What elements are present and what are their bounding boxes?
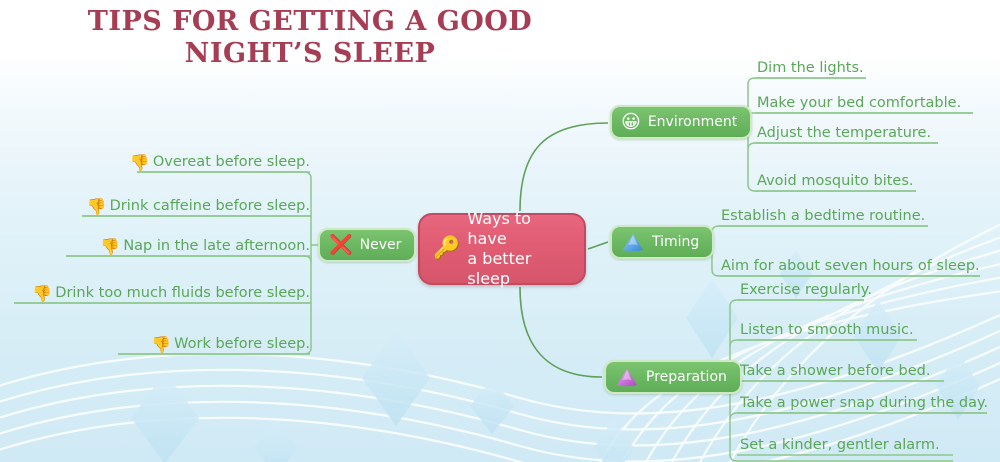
leaf-environment-4[interactable]: Avoid mosquito bites. bbox=[757, 174, 914, 193]
red-x-icon: ❌ bbox=[329, 236, 353, 255]
leaf-environment-1[interactable]: Dim the lights. bbox=[757, 61, 864, 80]
branch-node-environment-label: Environment bbox=[648, 114, 737, 130]
page-title-line-2: NIGHT’S SLEEP bbox=[0, 38, 620, 70]
thumbs-down-icon: 👎 bbox=[100, 237, 120, 256]
link-center-timing bbox=[588, 242, 608, 249]
leaf-never-1[interactable]: 👎Overeat before sleep. bbox=[100, 155, 310, 175]
page-title-line-1: TIPS FOR GETTING A GOOD bbox=[0, 6, 620, 38]
key-icon: 🔑 bbox=[433, 238, 460, 260]
leaf-environment-3-label: Adjust the temperature. bbox=[757, 125, 931, 141]
leaf-never-4-label: Drink too much fluids before sleep. bbox=[55, 285, 310, 301]
blue-cone-icon bbox=[621, 232, 645, 252]
branch-node-environment[interactable]: 😀 Environment bbox=[610, 105, 752, 139]
thumbs-down-icon: 👎 bbox=[151, 335, 171, 354]
branch-node-timing[interactable]: Timing bbox=[610, 225, 714, 259]
central-topic-line-1: Ways to have bbox=[467, 209, 531, 248]
smiley-face-icon: 😀 bbox=[621, 113, 641, 132]
branch-node-preparation-label: Preparation bbox=[646, 369, 727, 385]
purple-cone-icon bbox=[615, 367, 639, 387]
branch-node-timing-label: Timing bbox=[652, 234, 699, 250]
leaf-never-2-label: Drink caffeine before sleep. bbox=[110, 198, 310, 214]
leaf-timing-1-label: Establish a bedtime routine. bbox=[721, 208, 925, 224]
leaf-environment-1-label: Dim the lights. bbox=[757, 60, 864, 76]
central-topic-node[interactable]: 🔑 Ways to have a better sleep bbox=[418, 213, 586, 285]
leaf-never-3[interactable]: 👎Nap in the late afternoon. bbox=[60, 239, 310, 259]
leaf-preparation-4-label: Take a power snap during the day. bbox=[740, 395, 988, 411]
mindmap-canvas: TIPS FOR GETTING A GOOD NIGHT’S SLEEP bbox=[0, 0, 1000, 462]
leaf-environment-2-label: Make your bed comfortable. bbox=[757, 95, 961, 111]
leaf-preparation-5[interactable]: Set a kinder, gentler alarm. bbox=[740, 438, 940, 457]
leaf-environment-4-label: Avoid mosquito bites. bbox=[757, 173, 914, 189]
leaf-environment-2[interactable]: Make your bed comfortable. bbox=[757, 96, 961, 115]
branch-node-preparation[interactable]: Preparation bbox=[604, 360, 742, 394]
leaf-never-5-label: Work before sleep. bbox=[174, 336, 310, 352]
leaf-never-3-label: Nap in the late afternoon. bbox=[123, 238, 310, 254]
leaf-preparation-2-label: Listen to smooth music. bbox=[740, 322, 914, 338]
leaf-never-5[interactable]: 👎Work before sleep. bbox=[110, 337, 310, 357]
leaf-never-1-label: Overeat before sleep. bbox=[153, 154, 310, 170]
leaf-preparation-2[interactable]: Listen to smooth music. bbox=[740, 323, 914, 342]
link-center-environment bbox=[520, 123, 608, 211]
branch-node-never-label: Never bbox=[360, 237, 402, 253]
leaf-preparation-1-label: Exercise regularly. bbox=[740, 282, 872, 298]
leaf-never-4[interactable]: 👎Drink too much fluids before sleep. bbox=[6, 286, 310, 306]
leaf-preparation-4[interactable]: Take a power snap during the day. bbox=[740, 396, 988, 415]
thumbs-down-icon: 👎 bbox=[87, 197, 107, 216]
link-center-preparation bbox=[520, 287, 602, 377]
page-title: TIPS FOR GETTING A GOOD NIGHT’S SLEEP bbox=[0, 6, 620, 70]
branch-node-never[interactable]: ❌ Never bbox=[318, 228, 416, 262]
leaf-preparation-5-label: Set a kinder, gentler alarm. bbox=[740, 437, 940, 453]
leaf-timing-2-label: Aim for about seven hours of sleep. bbox=[721, 258, 980, 274]
leaf-environment-3[interactable]: Adjust the temperature. bbox=[757, 126, 931, 145]
leaf-timing-1[interactable]: Establish a bedtime routine. bbox=[721, 209, 925, 228]
leaf-preparation-3-label: Take a shower before bed. bbox=[740, 363, 930, 379]
thumbs-down-icon: 👎 bbox=[130, 153, 150, 172]
thumbs-down-icon: 👎 bbox=[32, 284, 52, 303]
leaf-preparation-3[interactable]: Take a shower before bed. bbox=[740, 364, 930, 383]
central-topic-label: Ways to have a better sleep bbox=[467, 209, 572, 289]
leaf-timing-2[interactable]: Aim for about seven hours of sleep. bbox=[721, 259, 980, 278]
leaf-preparation-1[interactable]: Exercise regularly. bbox=[740, 283, 872, 302]
leaf-never-2[interactable]: 👎Drink caffeine before sleep. bbox=[50, 199, 310, 219]
central-topic-line-2: a better sleep bbox=[467, 249, 531, 288]
